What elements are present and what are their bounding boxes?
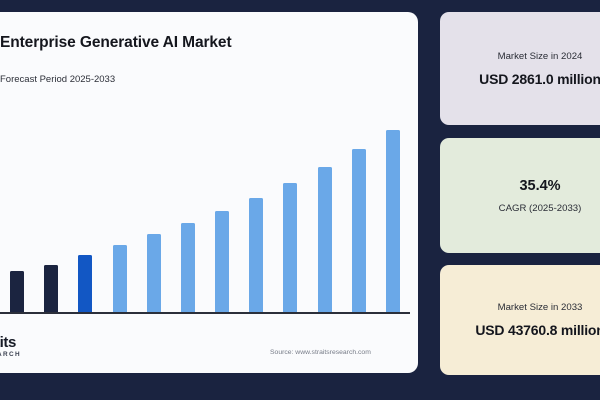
stat-card-market-size-2024: Market Size in 2024 USD 2861.0 million bbox=[440, 12, 600, 125]
x-axis-line bbox=[0, 312, 410, 314]
chart-panel: Enterprise Generative AI Market Forecast… bbox=[0, 12, 418, 373]
bar-2023 bbox=[44, 265, 58, 312]
bar-2022 bbox=[10, 271, 24, 312]
bar-slot bbox=[0, 107, 34, 312]
card-label: CAGR (2025-2033) bbox=[499, 203, 582, 214]
bar-chart: 2022202320242025202620272028202920302031… bbox=[0, 102, 410, 314]
bar-2024 bbox=[78, 255, 92, 312]
bar-2030 bbox=[283, 183, 297, 312]
source-caption: Source: www.straitsresearch.com bbox=[270, 349, 371, 356]
bar-slot bbox=[205, 107, 239, 312]
card-value: USD 2861.0 million bbox=[479, 71, 600, 87]
bar-2033 bbox=[386, 130, 400, 312]
bar-2028 bbox=[215, 211, 229, 312]
stat-card-market-size-2033: Market Size in 2033 USD 43760.8 million bbox=[440, 265, 600, 375]
bar-2025 bbox=[113, 245, 127, 312]
bar-slot bbox=[273, 107, 307, 312]
bar-2029 bbox=[249, 198, 263, 312]
bar-slot bbox=[103, 107, 137, 312]
bar-series bbox=[0, 107, 410, 312]
logo-tagline: RESEARCH bbox=[0, 351, 21, 358]
panel-subtitle: Forecast Period 2025-2033 bbox=[0, 74, 115, 85]
bar-2032 bbox=[352, 149, 366, 312]
logo-wordmark: Straits bbox=[0, 334, 16, 351]
card-value: USD 43760.8 million bbox=[475, 322, 600, 338]
bar-2027 bbox=[181, 223, 195, 312]
card-label: Market Size in 2033 bbox=[498, 302, 583, 313]
bar-slot bbox=[34, 107, 68, 312]
bar-slot bbox=[137, 107, 171, 312]
bar-slot bbox=[68, 107, 102, 312]
bar-slot bbox=[308, 107, 342, 312]
page-title: Enterprise Generative AI Market bbox=[0, 34, 232, 52]
bar-2026 bbox=[147, 234, 161, 312]
bar-2031 bbox=[318, 167, 332, 312]
bar-slot bbox=[342, 107, 376, 312]
stat-card-cagr: 35.4% CAGR (2025-2033) bbox=[440, 138, 600, 253]
card-label: Market Size in 2024 bbox=[498, 51, 583, 62]
straits-research-logo: Straits RESEARCH bbox=[0, 334, 42, 368]
bar-slot bbox=[239, 107, 273, 312]
card-value: 35.4% bbox=[519, 178, 560, 194]
infographic-canvas: Enterprise Generative AI Market Forecast… bbox=[0, 0, 600, 400]
bar-slot bbox=[376, 107, 410, 312]
bar-slot bbox=[171, 107, 205, 312]
